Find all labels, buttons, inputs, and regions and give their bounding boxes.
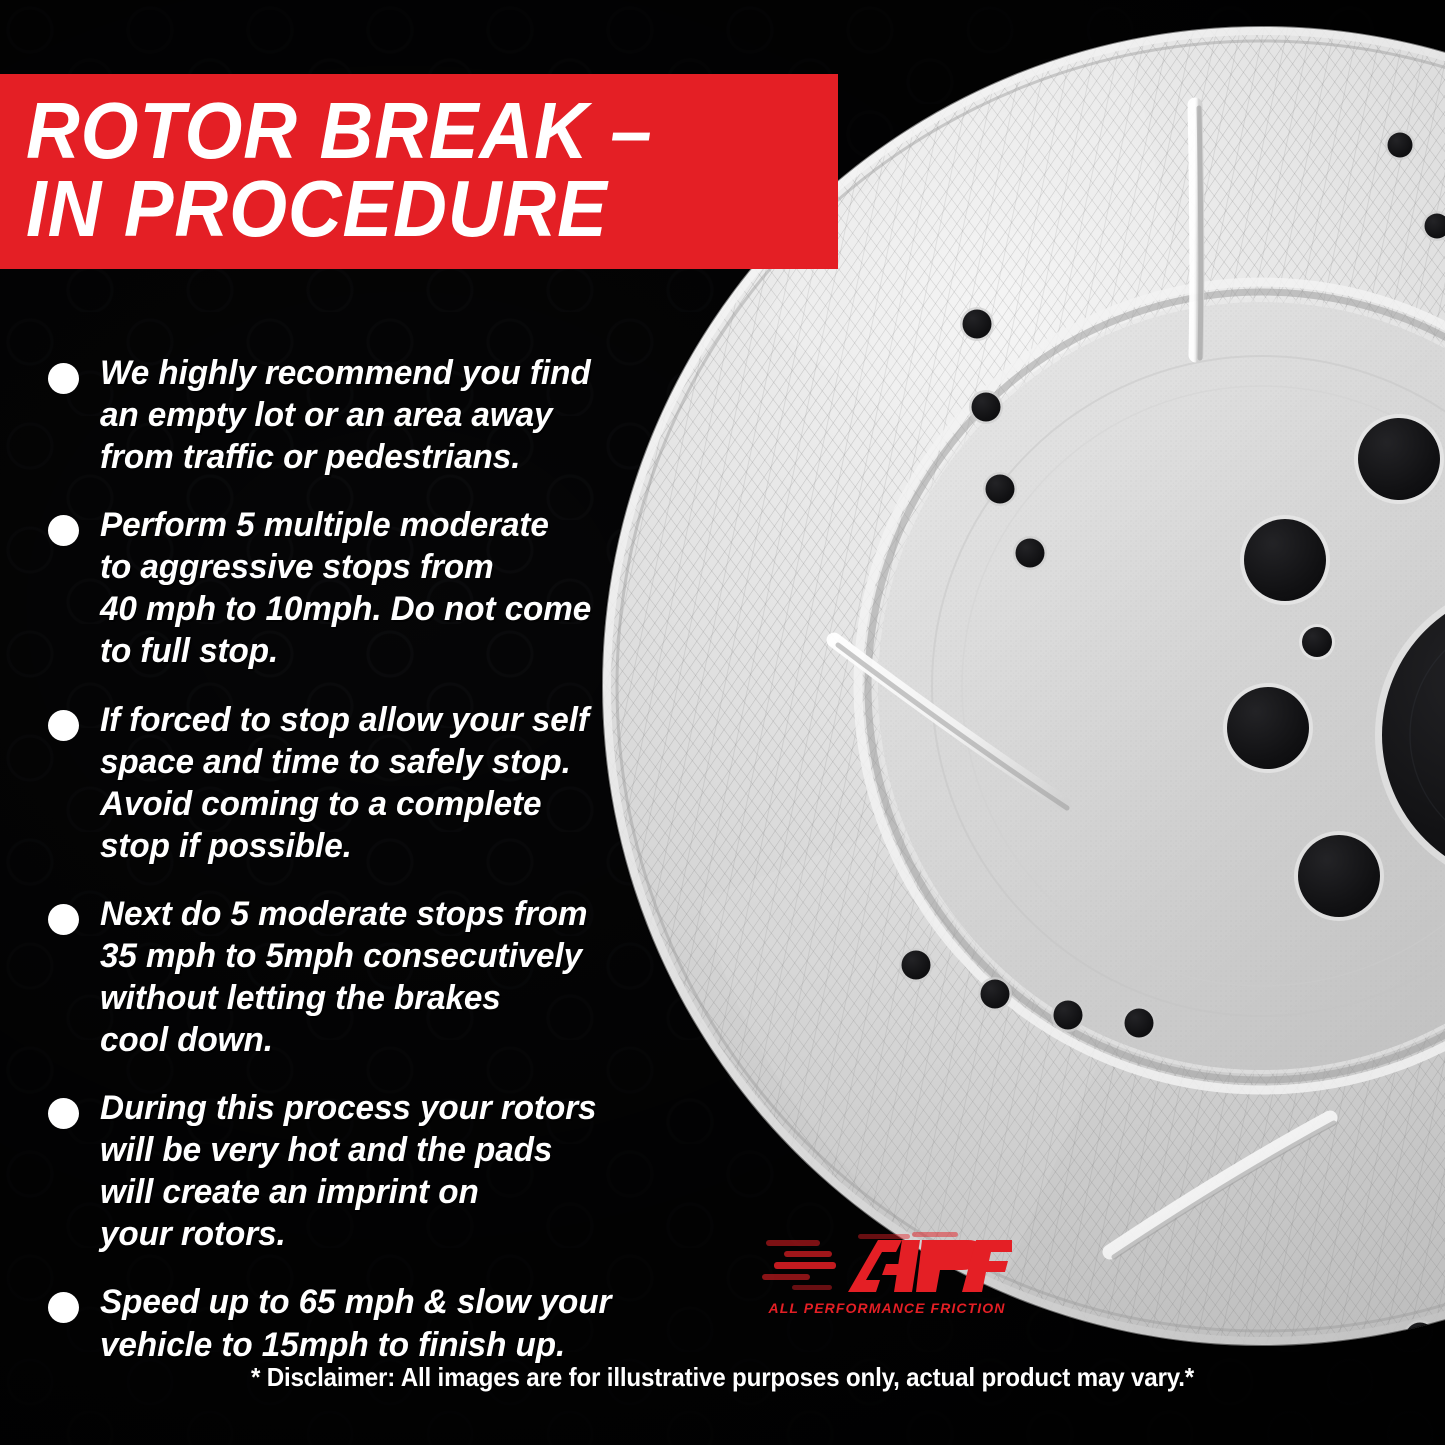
list-item: Next do 5 moderate stops from 35 mph to … [48,893,768,1061]
disclaimer-text: * Disclaimer: All images are for illustr… [51,1362,1395,1393]
bullet-text: If forced to stop allow your self space … [100,699,589,867]
apf-logo-tagline: ALL PERFORMANCE FRICTION [767,1300,1007,1316]
procedure-list: We highly recommend you find an empty lo… [48,352,768,1392]
poster-canvas: ROTOR BREAK – IN PROCEDURE We highly rec… [0,0,1445,1445]
title-banner: ROTOR BREAK – IN PROCEDURE [0,74,838,269]
page-title-line-2: IN PROCEDURE [26,170,781,248]
page-title-line-1: ROTOR BREAK – [26,92,781,170]
bullet-dot-icon [48,710,79,741]
bullet-text: During this process your rotors will be … [100,1087,596,1255]
bullet-dot-icon [48,1292,79,1323]
bullet-dot-icon [48,1098,79,1129]
list-item: Perform 5 multiple moderate to aggressiv… [48,504,768,672]
bullet-text: Next do 5 moderate stops from 35 mph to … [100,893,587,1061]
list-item: If forced to stop allow your self space … [48,699,768,867]
bullet-text: We highly recommend you find an empty lo… [100,352,591,478]
list-item: We highly recommend you find an empty lo… [48,352,768,478]
apf-logo-icon [762,1230,1012,1302]
list-item: During this process your rotors will be … [48,1087,768,1255]
apf-logo: ALL PERFORMANCE FRICTION [762,1230,1012,1330]
bullet-text: Speed up to 65 mph & slow your vehicle t… [100,1281,611,1365]
bullet-dot-icon [48,904,79,935]
bullet-dot-icon [48,515,79,546]
bullet-text: Perform 5 multiple moderate to aggressiv… [100,504,591,672]
bullet-dot-icon [48,363,79,394]
list-item: Speed up to 65 mph & slow your vehicle t… [48,1281,768,1365]
